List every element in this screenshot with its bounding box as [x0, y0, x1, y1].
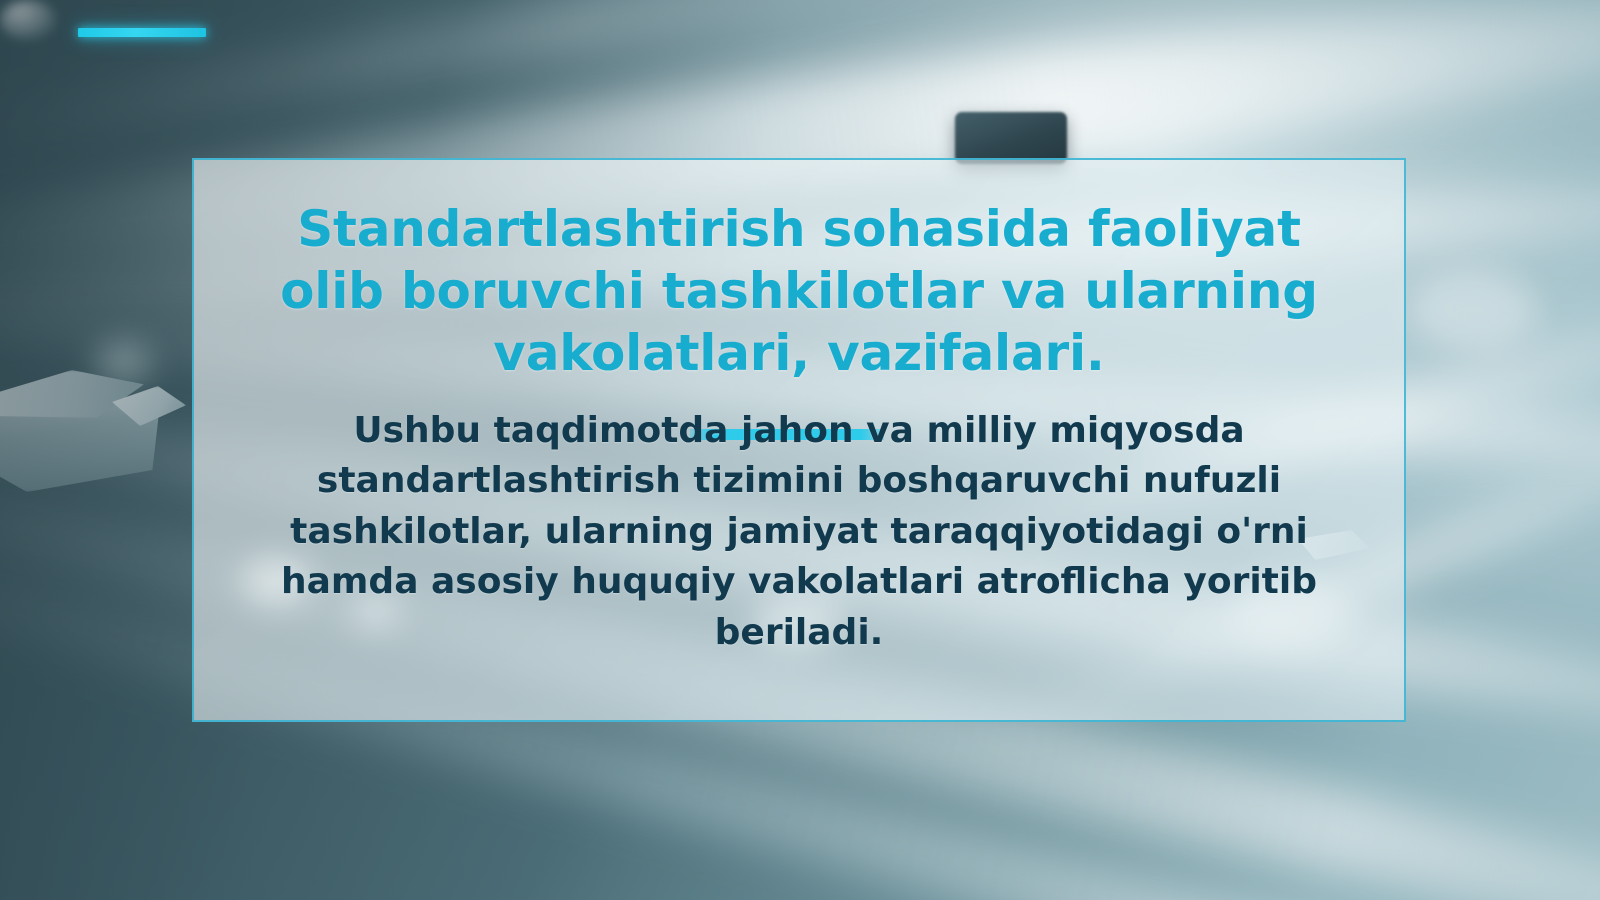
- light-streak: [0, 0, 1020, 167]
- slide-description: Ushbu taqdimotda jahon va milliy miqyosd…: [279, 406, 1319, 658]
- metal-tray-lid-shape: [0, 370, 144, 418]
- specular-highlight: [0, 0, 56, 40]
- content-panel: Standartlashtirish sohasida faoliyat oli…: [192, 158, 1406, 722]
- dark-chip-shape: [955, 112, 1067, 164]
- light-blob: [1408, 270, 1538, 350]
- presentation-slide: Standartlashtirish sohasida faoliyat oli…: [0, 0, 1600, 900]
- light-blob: [96, 342, 150, 382]
- accent-bar-icon: [78, 28, 206, 37]
- page-title: Standartlashtirish sohasida faoliyat oli…: [259, 198, 1339, 384]
- metal-wedge-shape: [112, 386, 186, 426]
- metal-tray-shape: [0, 392, 160, 492]
